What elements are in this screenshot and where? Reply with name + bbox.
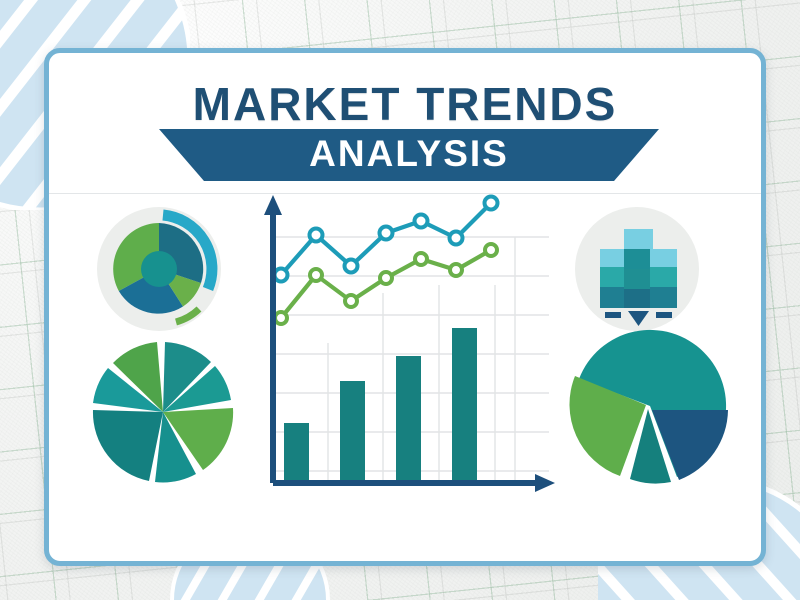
left-dash-icon — [605, 312, 621, 318]
stacked-bar-right — [650, 249, 677, 308]
infographic-card: MARKET TRENDS ANALYSIS — [44, 48, 766, 566]
infographic-canvas: MARKET TRENDS ANALYSIS — [0, 0, 800, 600]
banner-label: ANALYSIS — [159, 129, 659, 181]
donut-chart-icon[interactable] — [91, 201, 227, 337]
stacked-bar-chart-icon[interactable] — [569, 201, 705, 337]
stacked-bar-center — [624, 229, 653, 308]
charts-area — [49, 193, 761, 561]
title-banner: ANALYSIS — [159, 129, 659, 181]
combo-chart-svg — [249, 193, 559, 503]
chart-line-upper — [275, 197, 498, 282]
pie-slices — [569, 330, 728, 484]
stacked-bars-svg — [569, 201, 705, 337]
pie-chart-four-slice[interactable] — [565, 321, 735, 491]
page-title: MARKET TRENDS — [49, 77, 761, 131]
pie-chart-eight-slice[interactable] — [87, 336, 239, 488]
main-combo-chart[interactable] — [249, 193, 559, 503]
stacked-bar-left — [600, 249, 627, 308]
pie-slices — [93, 342, 233, 482]
header: MARKET TRENDS ANALYSIS — [49, 53, 761, 194]
up-arrow-icon — [264, 195, 282, 215]
right-arrow-icon — [535, 474, 555, 492]
donut-hub — [141, 251, 177, 287]
right-dash-icon — [656, 312, 672, 318]
pie-eight-svg — [87, 336, 239, 488]
pie-four-svg — [565, 321, 735, 491]
chart-line-lower — [275, 244, 497, 324]
chart-bars — [284, 328, 477, 483]
donut-chart-svg — [91, 201, 227, 337]
